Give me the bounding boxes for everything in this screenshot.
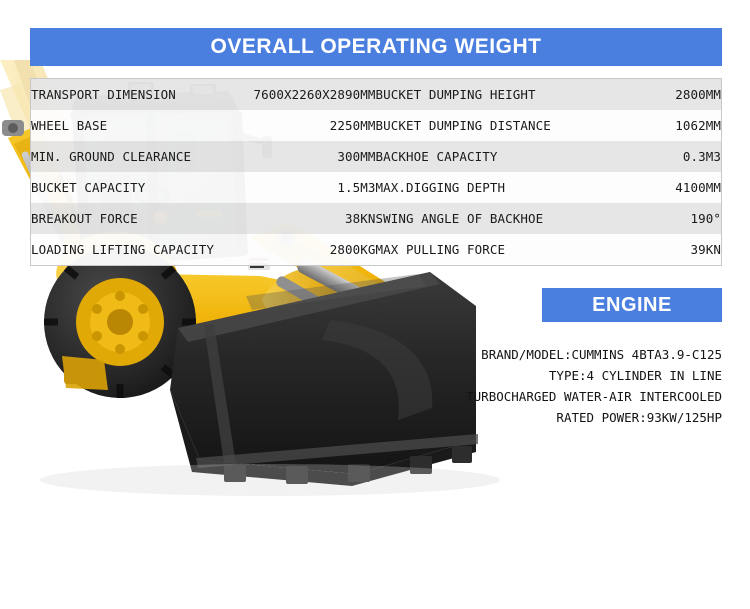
table-row: LOADING LIFTING CAPACITY 2800KG MAX PULL… xyxy=(31,234,722,266)
spec-label-right: BUCKET DUMPING DISTANCE xyxy=(376,110,581,141)
engine-spec-list: BRAND/MODEL:CUMMINS 4BTA3.9-C125 TYPE:4 … xyxy=(438,344,722,428)
engine-title: ENGINE xyxy=(542,288,722,322)
engine-spec-line: TURBOCHARGED WATER-AIR INTERCOOLED xyxy=(438,386,722,407)
spec-value-left: 1.5M3 xyxy=(231,172,376,203)
engine-section: ENGINE BRAND/MODEL:CUMMINS 4BTA3.9-C125 … xyxy=(438,288,722,428)
spec-label-left: TRANSPORT DIMENSION xyxy=(31,79,231,111)
spec-label-right: MAX.DIGGING DEPTH xyxy=(376,172,581,203)
spec-value-left: 300MM xyxy=(231,141,376,172)
spec-value-left: 2800KG xyxy=(231,234,376,266)
spec-label-left: BUCKET CAPACITY xyxy=(31,172,231,203)
spec-label-left: BREAKOUT FORCE xyxy=(31,203,231,234)
table-row: BREAKOUT FORCE 38KN SWING ANGLE OF BACKH… xyxy=(31,203,722,234)
spec-label-right: BACKHOE CAPACITY xyxy=(376,141,581,172)
spec-value-left: 7600X2260X2890MM xyxy=(231,79,376,111)
table-row: BUCKET CAPACITY 1.5M3 MAX.DIGGING DEPTH … xyxy=(31,172,722,203)
spec-label-left: MIN. GROUND CLEARANCE xyxy=(31,141,231,172)
overall-operating-weight-section: OVERALL OPERATING WEIGHT TRANSPORT DIMEN… xyxy=(30,28,722,266)
spec-value-left: 2250MM xyxy=(231,110,376,141)
spec-label-right: SWING ANGLE OF BACKHOE xyxy=(376,203,581,234)
spec-label-left: LOADING LIFTING CAPACITY xyxy=(31,234,231,266)
spec-value-right: 190° xyxy=(580,203,721,234)
spec-value-right: 4100MM xyxy=(580,172,721,203)
spec-table-body: TRANSPORT DIMENSION 7600X2260X2890MM BUC… xyxy=(31,79,722,266)
spec-value-right: 39KN xyxy=(580,234,721,266)
table-row: TRANSPORT DIMENSION 7600X2260X2890MM BUC… xyxy=(31,79,722,111)
table-row: MIN. GROUND CLEARANCE 300MM BACKHOE CAPA… xyxy=(31,141,722,172)
spec-table: TRANSPORT DIMENSION 7600X2260X2890MM BUC… xyxy=(30,78,722,266)
engine-spec-line: TYPE:4 CYLINDER IN LINE xyxy=(438,365,722,386)
engine-spec-line: RATED POWER:93KW/125HP xyxy=(438,407,722,428)
table-row: WHEEL BASE 2250MM BUCKET DUMPING DISTANC… xyxy=(31,110,722,141)
page-title: OVERALL OPERATING WEIGHT xyxy=(30,28,722,66)
spec-value-right: 0.3M3 xyxy=(580,141,721,172)
spec-label-right: BUCKET DUMPING HEIGHT xyxy=(376,79,581,111)
spec-label-left: WHEEL BASE xyxy=(31,110,231,141)
spec-label-right: MAX PULLING FORCE xyxy=(376,234,581,266)
spec-value-right: 1062MM xyxy=(580,110,721,141)
spec-value-left: 38KN xyxy=(231,203,376,234)
engine-spec-line: BRAND/MODEL:CUMMINS 4BTA3.9-C125 xyxy=(438,344,722,365)
spec-value-right: 2800MM xyxy=(580,79,721,111)
